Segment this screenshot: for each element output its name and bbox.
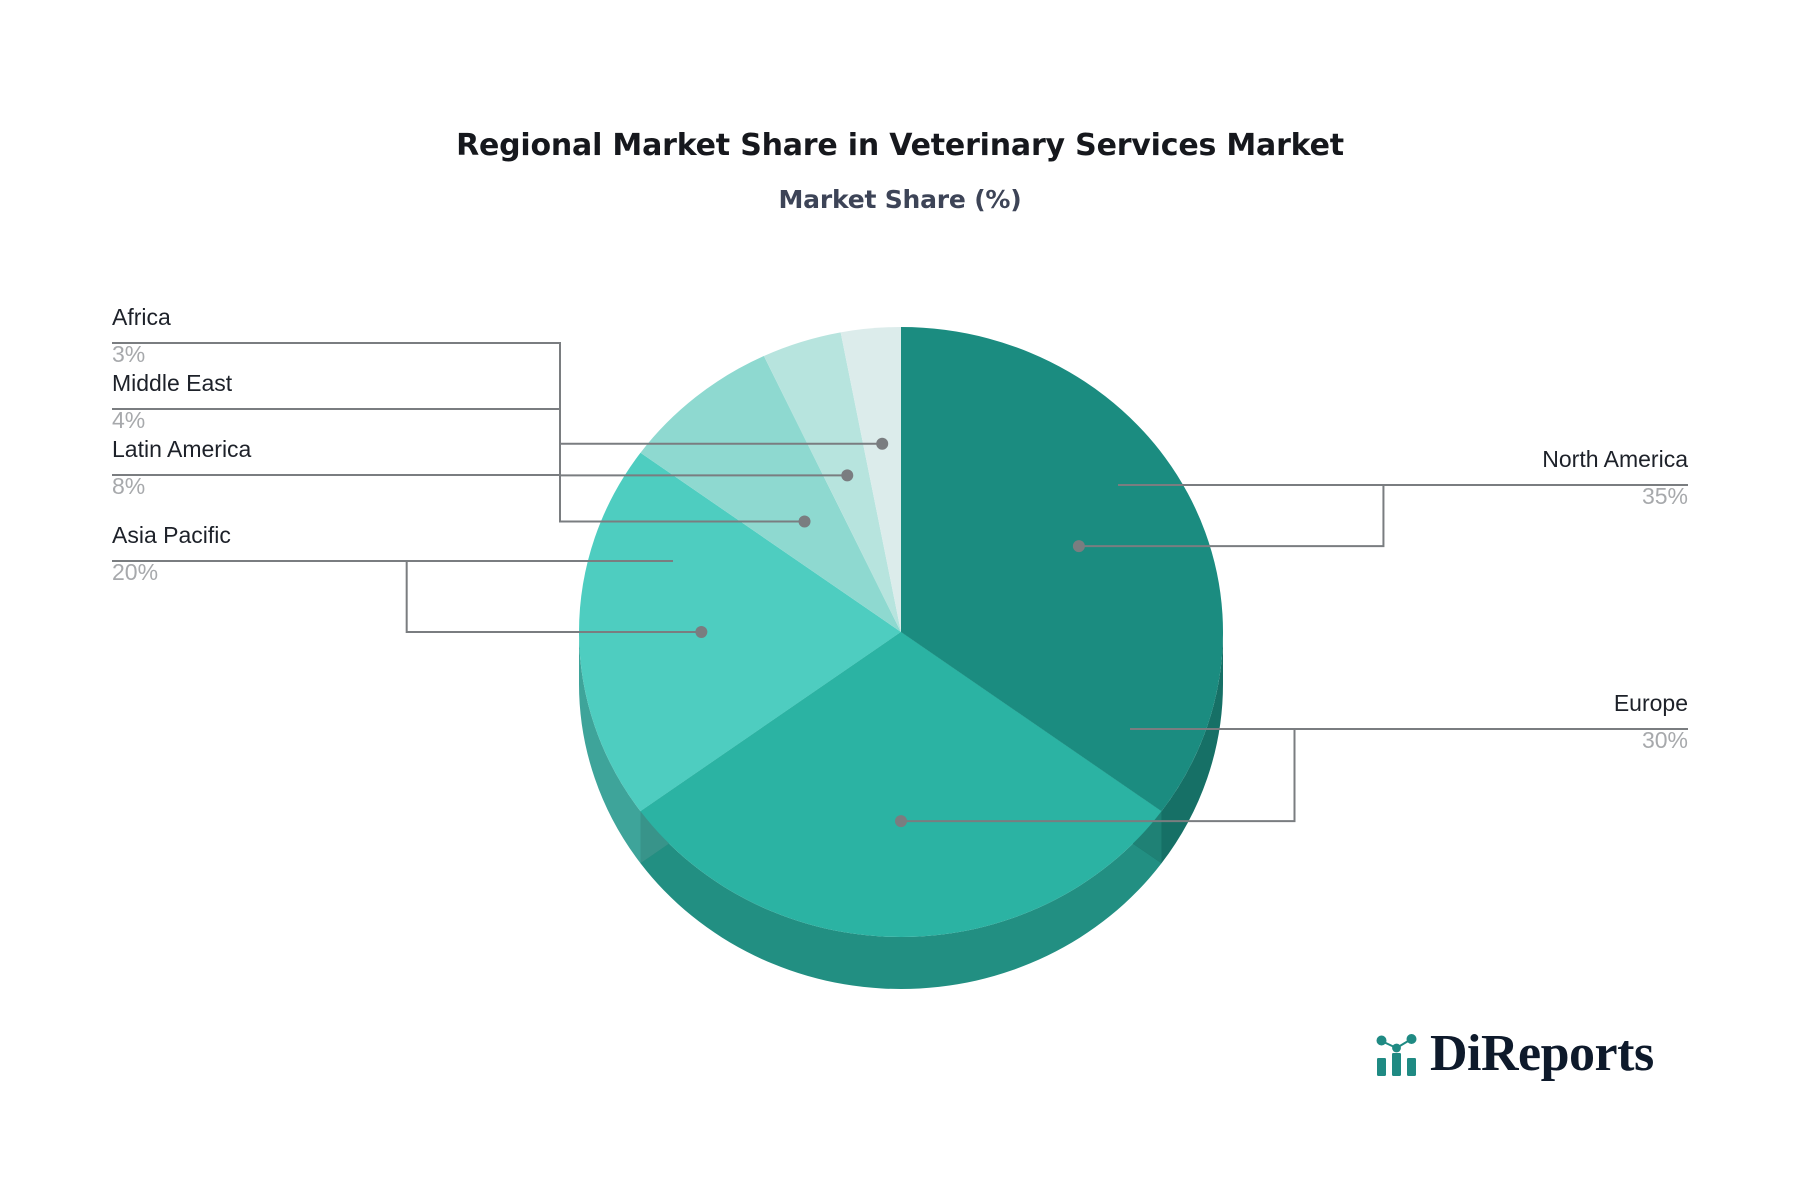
callout-asia-pacific-label: Asia Pacific [112, 520, 231, 550]
callout-latin-america-value: 8% [112, 471, 251, 501]
leader-dot-middle-east [841, 469, 853, 481]
bar-chart-icon [1372, 1028, 1424, 1080]
callout-asia-pacific[interactable]: Asia Pacific 20% [112, 520, 231, 588]
callout-middle-east[interactable]: Middle East 4% [112, 368, 232, 436]
pie-slice-latin-america [640, 356, 901, 632]
pie-slice-radial-face [640, 632, 901, 863]
callout-africa-value: 3% [112, 339, 171, 369]
callout-north-america-value: 35% [1542, 481, 1688, 511]
leader-dot-asia-pacific [695, 626, 707, 638]
callout-latin-america[interactable]: Latin America 8% [112, 434, 251, 502]
pie-slice-middle-east [764, 332, 901, 632]
leader-lines [112, 343, 1688, 827]
callout-north-america-label: North America [1542, 444, 1688, 474]
callout-north-america[interactable]: North America 35% [1542, 444, 1688, 512]
pie-slice-side-asia-pacific [579, 632, 640, 863]
pie-slice-radial-face [901, 632, 1162, 863]
chart-canvas: Regional Market Share in Veterinary Serv… [0, 0, 1800, 1196]
chart-title: Regional Market Share in Veterinary Serv… [0, 128, 1800, 164]
pie-3d-side-walls [579, 632, 1223, 989]
callout-europe[interactable]: Europe 30% [1614, 688, 1688, 756]
brand-logo-text: DiReports [1430, 1028, 1654, 1080]
pie-slice-europe [640, 632, 1161, 937]
callout-africa[interactable]: Africa 3% [112, 302, 171, 370]
brand-logo[interactable]: DiReports [1372, 1028, 1654, 1080]
pie-slice-radial-face [901, 632, 1162, 863]
leader-dot-latin-america [799, 516, 811, 528]
chart-subtitle: Market Share (%) [0, 185, 1800, 215]
callout-middle-east-value: 4% [112, 405, 232, 435]
callout-middle-east-label: Middle East [112, 368, 232, 398]
leader-dot-europe [895, 815, 907, 827]
callout-asia-pacific-value: 20% [112, 557, 231, 587]
leader-dot-north-america [1073, 540, 1085, 552]
callout-europe-value: 30% [1614, 725, 1688, 755]
callout-latin-america-label: Latin America [112, 434, 251, 464]
title-block: Regional Market Share in Veterinary Serv… [0, 128, 1800, 215]
pie-top-face-slices [579, 327, 1223, 937]
callout-africa-label: Africa [112, 302, 171, 332]
leader-line-europe [901, 729, 1688, 821]
pie-slice-side-europe [640, 811, 1161, 989]
leader-dot-africa [876, 438, 888, 450]
pie-slice-north-america [901, 327, 1223, 811]
pie-slice-africa [841, 327, 901, 632]
pie-slice-radial-face [640, 632, 901, 863]
pie-slice-asia-pacific [579, 453, 901, 812]
pie-slice-side-north-america [1162, 632, 1223, 863]
callout-europe-label: Europe [1614, 688, 1688, 718]
